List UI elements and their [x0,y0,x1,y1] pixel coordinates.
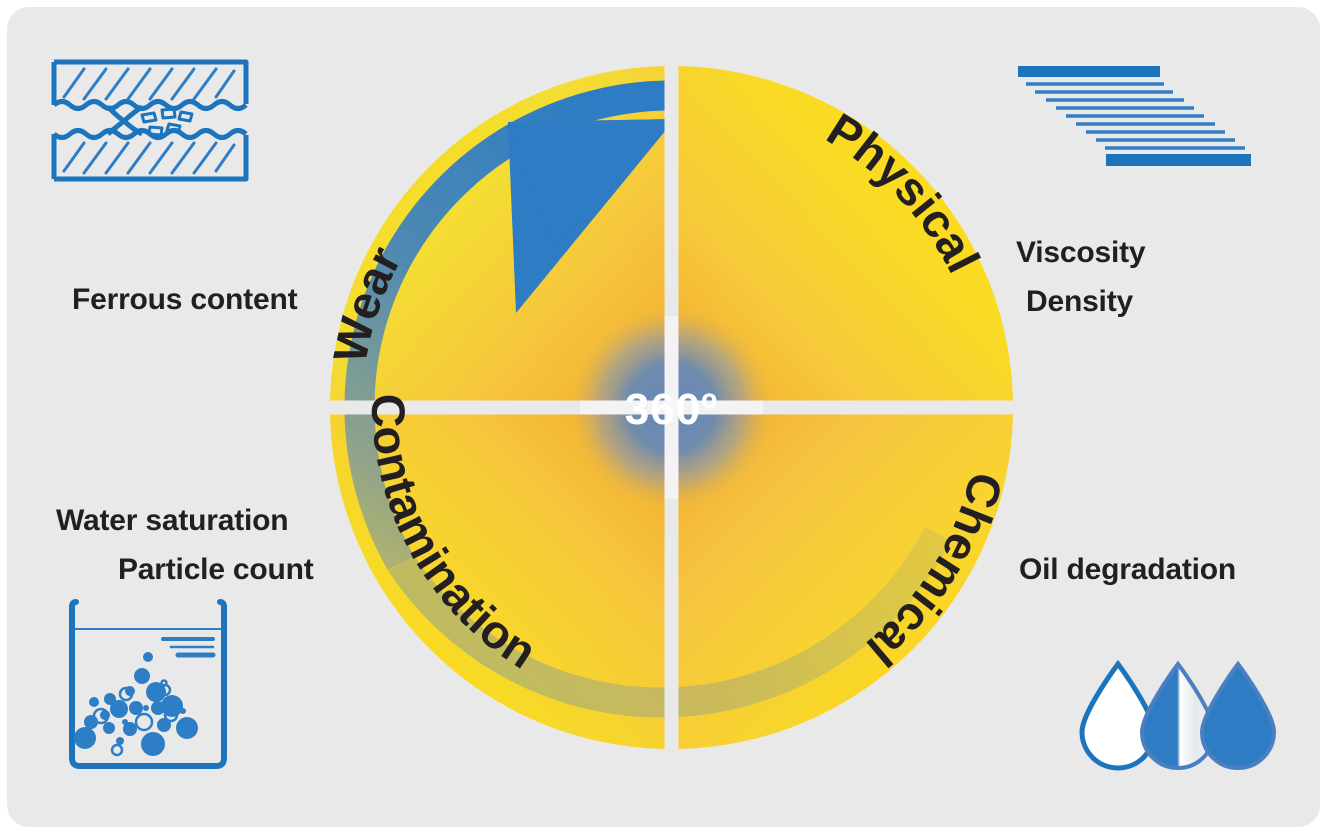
droplet-degraded [1202,664,1274,768]
infographic-canvas: Wear Physical Contamination Chemical 360… [0,0,1327,834]
label-water-saturation: Water saturation [56,504,288,538]
metal-wear-debris-icon [50,57,250,182]
three-droplets-icon [1078,660,1278,780]
droplet-partial [1142,664,1214,768]
label-ferrous-content: Ferrous content [72,283,297,317]
oil-analysis-wheel: Wear Physical Contamination Chemical 360… [330,66,1013,749]
label-viscosity: Viscosity [1016,236,1145,270]
label-density: Density [1026,285,1133,319]
fluid-shear-layers-icon [1016,62,1281,172]
center-label: 360º [625,385,718,434]
droplet-clean [1082,664,1154,768]
label-oil-degradation: Oil degradation [1019,553,1236,587]
label-particle-count: Particle count [118,553,314,587]
beaker-particles-icon [68,598,228,773]
